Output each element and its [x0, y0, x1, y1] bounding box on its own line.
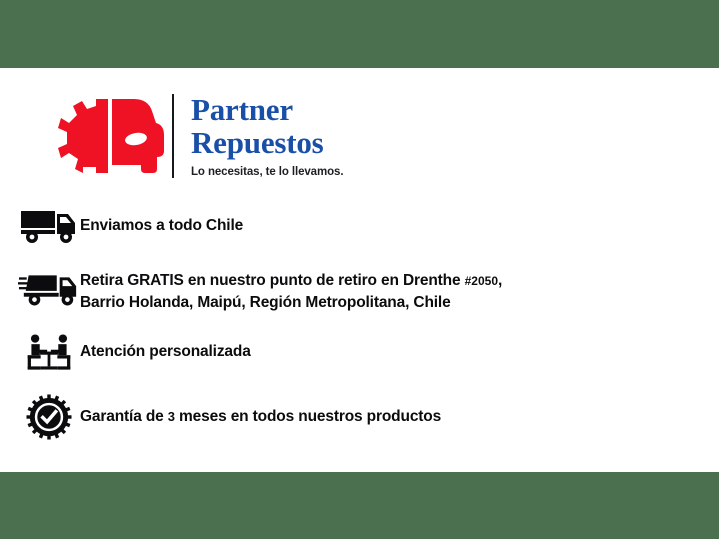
logo-divider: [172, 94, 174, 178]
moving-truck-icon: [18, 266, 80, 310]
feature-item-service: Atención personalizada: [18, 330, 251, 374]
bottom-green-band: [0, 472, 719, 539]
brand-line-1: Partner: [191, 94, 343, 125]
feature-text-shipping: Enviamos a todo Chile: [80, 206, 243, 236]
feature-text-service: Atención personalizada: [80, 330, 251, 362]
warranty-months: 3: [168, 409, 175, 424]
feature-text-warranty: Garantía de 3 meses en todos nuestros pr…: [80, 393, 441, 427]
brand-line-2: Repuestos: [191, 127, 343, 158]
brand-logo: Partner Repuestos Lo necesitas, te lo ll…: [56, 93, 343, 179]
pickup-text-part-1: Retira GRATIS en nuestro punto de retiro…: [80, 272, 465, 289]
brand-text: Partner Repuestos Lo necesitas, te lo ll…: [191, 94, 343, 179]
gear-car-logo: [56, 93, 168, 179]
pickup-text-line-2: Barrio Holanda, Maipú, Región Metropolit…: [80, 294, 451, 311]
delivery-truck-icon: [18, 206, 80, 246]
feature-item-shipping: Enviamos a todo Chile: [18, 206, 243, 246]
warranty-text-part-2: meses en todos nuestros productos: [175, 408, 441, 425]
feature-text-pickup: Retira GRATIS en nuestro punto de retiro…: [80, 266, 502, 313]
content-area: Partner Repuestos Lo necesitas, te lo ll…: [0, 68, 719, 472]
check-badge-icon: [18, 393, 80, 441]
feature-item-pickup: Retira GRATIS en nuestro punto de retiro…: [18, 266, 502, 313]
promo-banner: Partner Repuestos Lo necesitas, te lo ll…: [0, 0, 719, 539]
warranty-text-part-1: Garantía de: [80, 408, 168, 425]
people-at-table-icon: [18, 330, 80, 374]
pickup-street-number: #2050: [465, 274, 498, 288]
brand-tagline: Lo necesitas, te lo llevamos.: [191, 166, 343, 179]
pickup-text-part-2: ,: [498, 272, 502, 289]
feature-item-warranty: Garantía de 3 meses en todos nuestros pr…: [18, 393, 441, 441]
top-green-band: [0, 0, 719, 68]
